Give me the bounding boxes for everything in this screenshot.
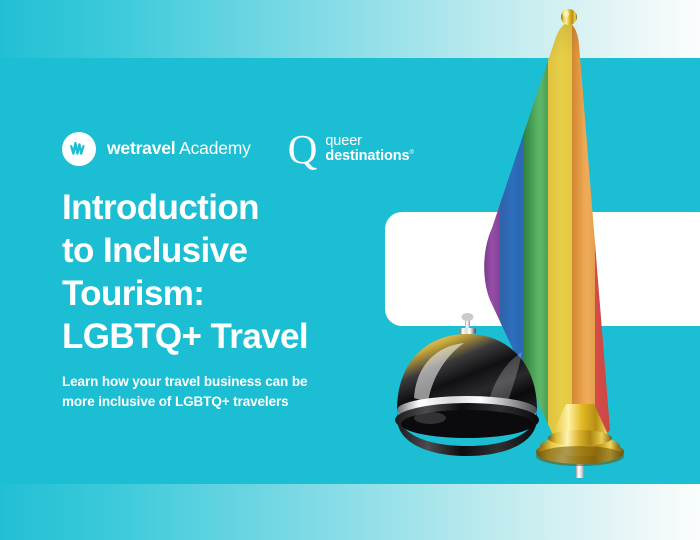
wetravel-word: wetravel (107, 138, 175, 158)
headline: Introduction to Inclusive Tourism: LGBTQ… (62, 186, 392, 358)
destinations-text: destinations (325, 148, 409, 164)
wetravel-academy-wordmark: wetravel Academy (107, 140, 251, 158)
wetravel-academy-logo[interactable]: wetravel Academy (62, 132, 251, 166)
headline-line-1: Introduction (62, 186, 392, 229)
registered-mark: ® (410, 150, 414, 156)
queer-word: queer (325, 134, 414, 149)
queer-q-mark-icon: Q (288, 131, 318, 167)
promo-banner: wetravel Academy Q queer destinations® I… (0, 0, 700, 540)
photo-composition (370, 0, 700, 500)
academy-word: Academy (175, 138, 250, 158)
flag-and-bell-illustration (370, 0, 700, 500)
queer-destinations-logo[interactable]: Q queer destinations® (288, 131, 414, 167)
subtitle-line-1: Learn how your travel business can be (62, 372, 382, 392)
headline-line-2: to Inclusive (62, 229, 392, 272)
destinations-word: destinations® (325, 149, 414, 164)
queer-destinations-wordmark: queer destinations® (325, 134, 414, 164)
subtitle-line-2: more inclusive of LGBTQ+ travelers (62, 392, 382, 412)
headline-line-3: Tourism: (62, 272, 392, 315)
subtitle: Learn how your travel business can be mo… (62, 372, 382, 411)
logo-row: wetravel Academy Q queer destinations® (62, 126, 414, 172)
headline-line-4: LGBTQ+ Travel (62, 315, 392, 358)
wetravel-w-mark-icon (62, 132, 96, 166)
